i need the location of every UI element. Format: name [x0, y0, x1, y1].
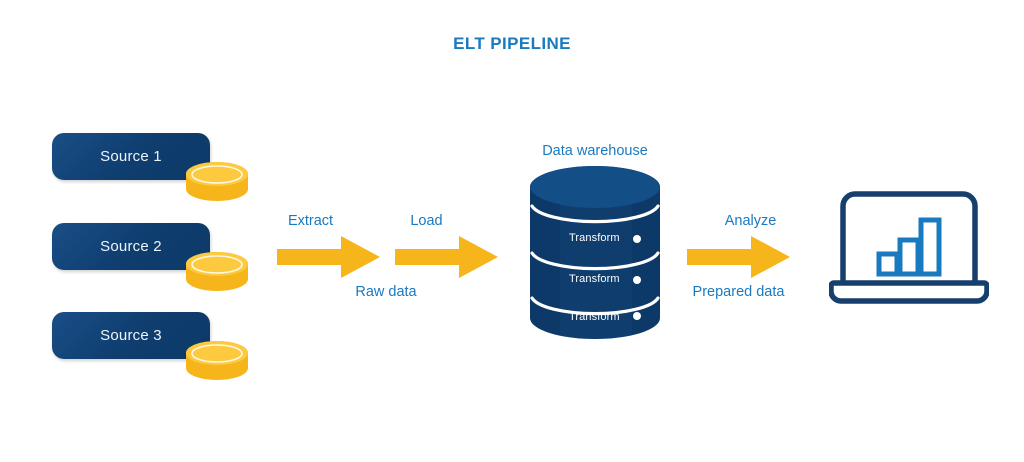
- database-disk-icon: [184, 250, 250, 296]
- warehouse-segment-label-1: Transform: [569, 232, 620, 244]
- status-dot-icon: [632, 311, 642, 321]
- flow-label-prepared-data: Prepared data: [666, 284, 811, 300]
- warehouse-segment-label-3: Transform: [569, 311, 620, 323]
- page-title: ELT PIPELINE: [0, 34, 1024, 54]
- flow-label-extract: Extract: [258, 213, 363, 229]
- source-node-3[interactable]: Source 3: [52, 312, 267, 382]
- source-node-1[interactable]: Source 1: [52, 133, 267, 203]
- status-dot-icon: [632, 275, 642, 285]
- arrow-right-icon: [277, 236, 380, 278]
- flow-label-analyze: Analyze: [678, 213, 823, 229]
- flow-label-load: Load: [375, 213, 478, 229]
- elt-pipeline-diagram: ELT PIPELINE Source 1 Source 2 Source 3 …: [0, 0, 1024, 462]
- laptop-bar-chart-icon[interactable]: [829, 186, 989, 306]
- arrow-right-icon: [395, 236, 498, 278]
- warehouse-segment-label-2: Transform: [569, 273, 620, 285]
- flow-label-raw-data: Raw data: [303, 284, 469, 300]
- warehouse-caption: Data warehouse: [489, 143, 701, 159]
- source-node-2[interactable]: Source 2: [52, 223, 267, 293]
- database-disk-icon: [184, 160, 250, 206]
- arrow-right-icon: [687, 236, 790, 278]
- database-disk-icon: [184, 339, 250, 385]
- status-dot-icon: [632, 234, 642, 244]
